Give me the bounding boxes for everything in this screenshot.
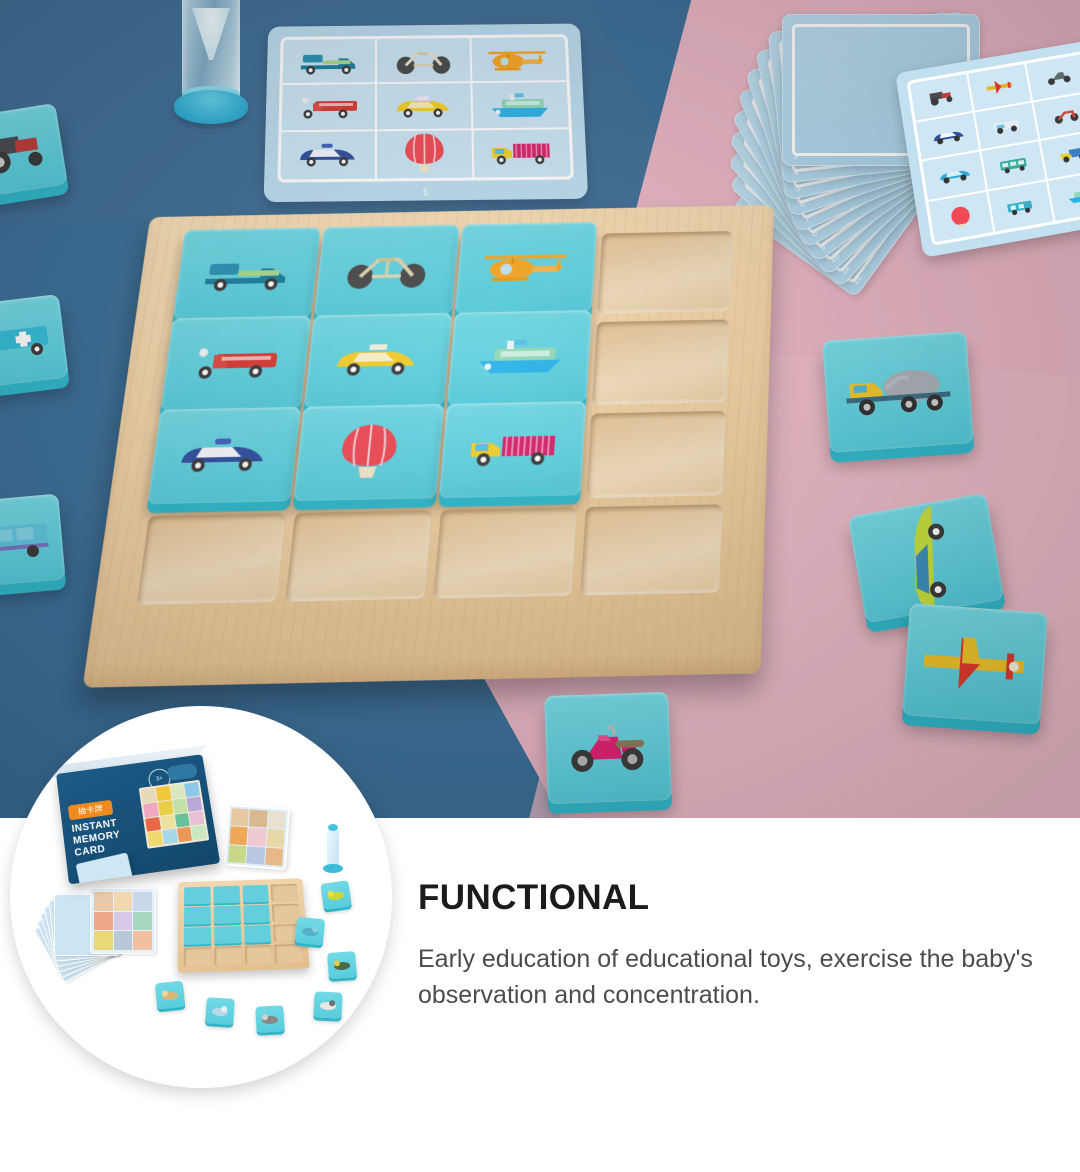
inset-timer-cap (328, 824, 338, 831)
tile-cargo-truck[interactable] (439, 401, 587, 499)
inset-wooden-board (177, 878, 309, 972)
reference-cell-cargo-truck (473, 129, 571, 178)
sand-timer (168, 0, 254, 136)
product-box-front: 3+ 抽卡牌 INSTANT MEMORY CARD (56, 754, 220, 884)
page-title: FUNCTIONAL (418, 880, 1038, 915)
product-photo: 5 12 11 10 9 8 7 6 5 4 3 (0, 0, 1080, 818)
inset-animal-tile (320, 880, 351, 910)
feature-panel: 3+ 抽卡牌 INSTANT MEMORY CARD (0, 818, 1080, 1172)
board-slot-15[interactable] (433, 508, 577, 599)
inset-card-fan (48, 884, 160, 970)
inset-animal-tile (255, 1005, 284, 1032)
inset-card-fan-front (90, 888, 156, 954)
inset-stage: 3+ 抽卡牌 INSTANT MEMORY CARD (10, 706, 392, 1088)
reference-cell-fire-truck (282, 84, 378, 132)
product-box-title: INSTANT MEMORY CARD (71, 813, 154, 860)
reference-cell-police-car (280, 131, 377, 180)
front-cell-train (988, 181, 1055, 232)
feature-copy: FUNCTIONAL Early education of educationa… (418, 880, 1038, 1013)
sand-timer-base (174, 90, 248, 124)
reference-cell-hot-air-balloon (377, 130, 474, 179)
board-slot-16[interactable] (581, 505, 723, 596)
reference-cell-ferry-boat (472, 82, 569, 129)
reference-cell-pickup-truck (283, 39, 378, 86)
bus-tile[interactable] (0, 494, 66, 589)
board-slot-6[interactable] (306, 325, 447, 410)
board-slot-13[interactable] (137, 514, 286, 605)
tile-bicycle[interactable] (314, 225, 459, 317)
board-slot-7[interactable] (449, 322, 588, 407)
inset-animal-tile (295, 917, 326, 946)
inset-animal-tile (327, 951, 357, 979)
inset-animal-tile (205, 997, 235, 1025)
tile-helicopter[interactable] (454, 222, 597, 314)
pattern-card-front (895, 40, 1080, 258)
product-box: 3+ 抽卡牌 INSTANT MEMORY CARD (56, 754, 220, 884)
fan-card-number: 3 (793, 151, 798, 161)
fan-card-number: 4 (793, 167, 799, 177)
product-set-inset-photo: 3+ 抽卡牌 INSTANT MEMORY CARD (10, 706, 392, 1088)
reference-card-number: 5 (423, 187, 429, 197)
front-cell-hot-air-balloon (928, 191, 995, 242)
inset-animal-tile (155, 981, 186, 1010)
tile-taxi[interactable] (304, 313, 452, 408)
inset-pattern-card (224, 804, 290, 870)
board-slot-1[interactable] (176, 239, 317, 322)
board-slot-4[interactable] (598, 231, 733, 313)
product-box-grid-graphic (139, 780, 210, 849)
feature-description: Early education of educational toys, exe… (418, 942, 1038, 1013)
reference-cell-taxi (377, 83, 473, 131)
cement-mixer-tile[interactable] (822, 331, 973, 453)
board-slot-2[interactable] (316, 236, 455, 319)
vehicle-pattern-reference-card: 5 (264, 24, 589, 203)
airplane-tile[interactable] (902, 603, 1047, 724)
inset-sand-timer (323, 824, 343, 880)
wooden-memory-board (109, 205, 787, 687)
reference-cell-helicopter (471, 37, 567, 83)
tile-fire-truck[interactable] (160, 315, 310, 410)
board-slot-5[interactable] (163, 328, 307, 413)
product-box-badge: 抽卡牌 (68, 800, 113, 821)
tile-ferry-boat[interactable] (447, 310, 592, 405)
scooter-tile[interactable] (544, 692, 672, 804)
ambulance-tile[interactable] (0, 294, 69, 390)
inset-timer-glass (327, 830, 339, 866)
reference-card-grid (277, 34, 574, 183)
board-slot-3[interactable] (457, 234, 594, 317)
tile-pickup-truck[interactable] (173, 227, 321, 319)
reference-cell-bicycle (377, 38, 472, 84)
pattern-card-front-grid (906, 50, 1080, 245)
board-grid (137, 231, 732, 605)
box-chip-graphic (166, 763, 197, 781)
inset-timer-base (323, 864, 343, 873)
board-slot-14[interactable] (285, 511, 431, 602)
inset-animal-tile (313, 991, 342, 1018)
